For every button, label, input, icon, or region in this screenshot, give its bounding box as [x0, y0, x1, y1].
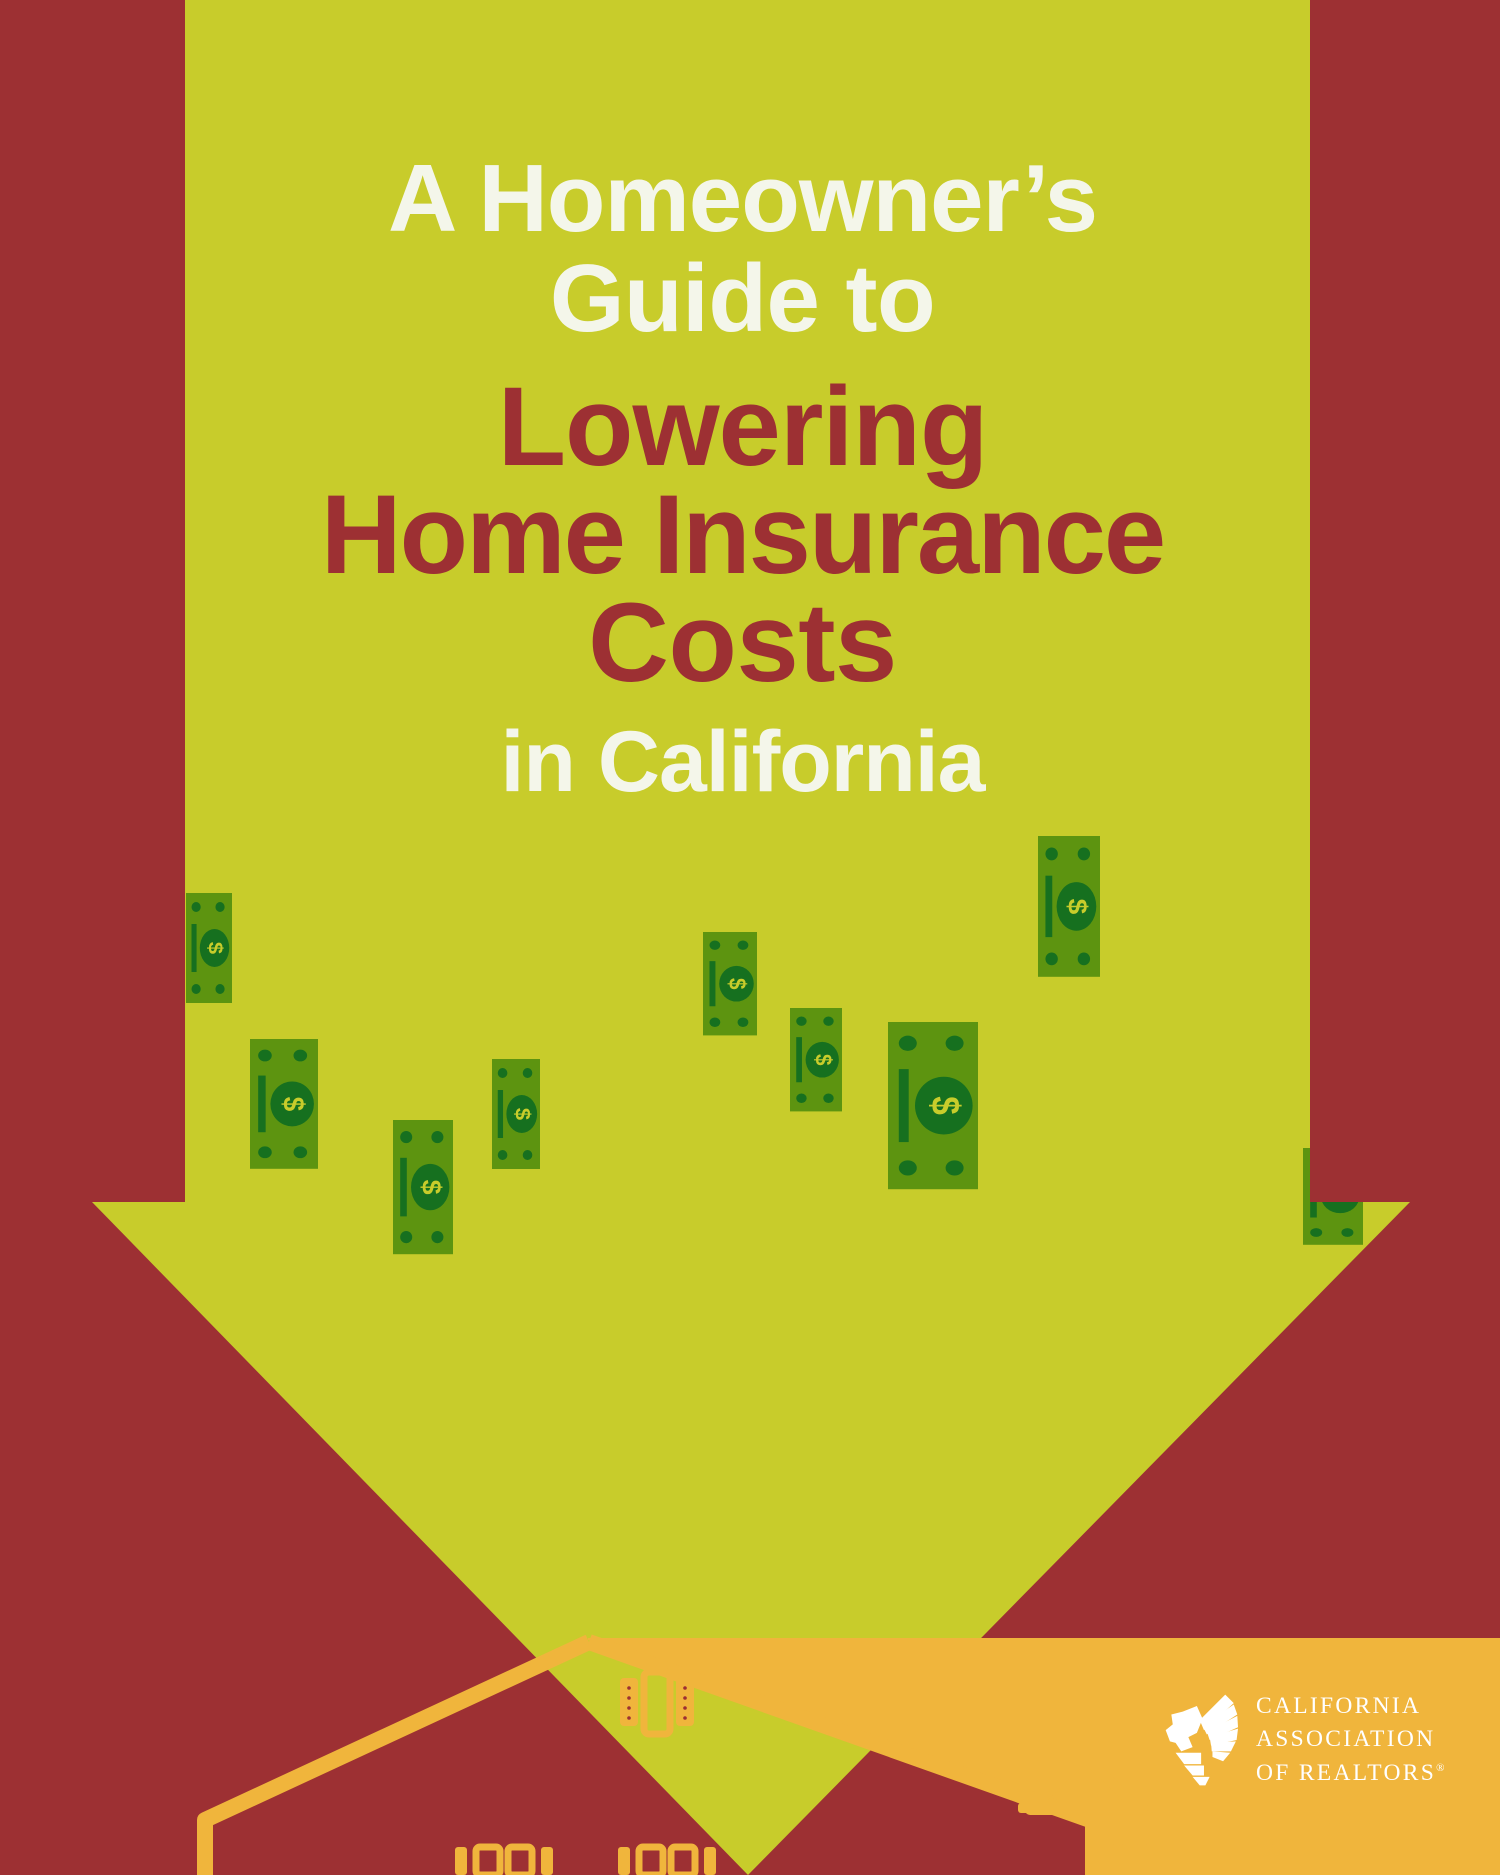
bill	[186, 893, 232, 1003]
front-window-left	[455, 1847, 553, 1875]
falling-money-bills: $	[0, 0, 1500, 1875]
bill	[888, 1022, 978, 1189]
logo-wordmark: CALIFORNIA ASSOCIATION OF REALTORS®	[1256, 1690, 1444, 1790]
logo-line-1: CALIFORNIA	[1256, 1690, 1444, 1723]
car-logo: CALIFORNIA ASSOCIATION OF REALTORS®	[1160, 1690, 1444, 1790]
logo-line-3: OF REALTORS	[1256, 1760, 1436, 1786]
bill	[1303, 1148, 1363, 1245]
entry-side-windows	[1155, 1850, 1204, 1875]
logo-line-3-wrap: OF REALTORS®	[1256, 1757, 1444, 1790]
bill	[492, 1059, 540, 1169]
bill	[250, 1039, 318, 1169]
bill	[790, 1008, 842, 1111]
bill	[393, 1120, 453, 1254]
bill	[703, 932, 757, 1035]
cover-page: $ A Homeowner’s Guide to Lowering Home I…	[0, 0, 1500, 1875]
attic-window	[620, 1672, 694, 1734]
logo-line-2: ASSOCIATION	[1256, 1723, 1444, 1756]
registered-mark: ®	[1436, 1762, 1444, 1774]
california-bear-diamond-icon	[1160, 1690, 1238, 1790]
bill	[1038, 836, 1100, 977]
front-window-mid	[618, 1847, 716, 1875]
